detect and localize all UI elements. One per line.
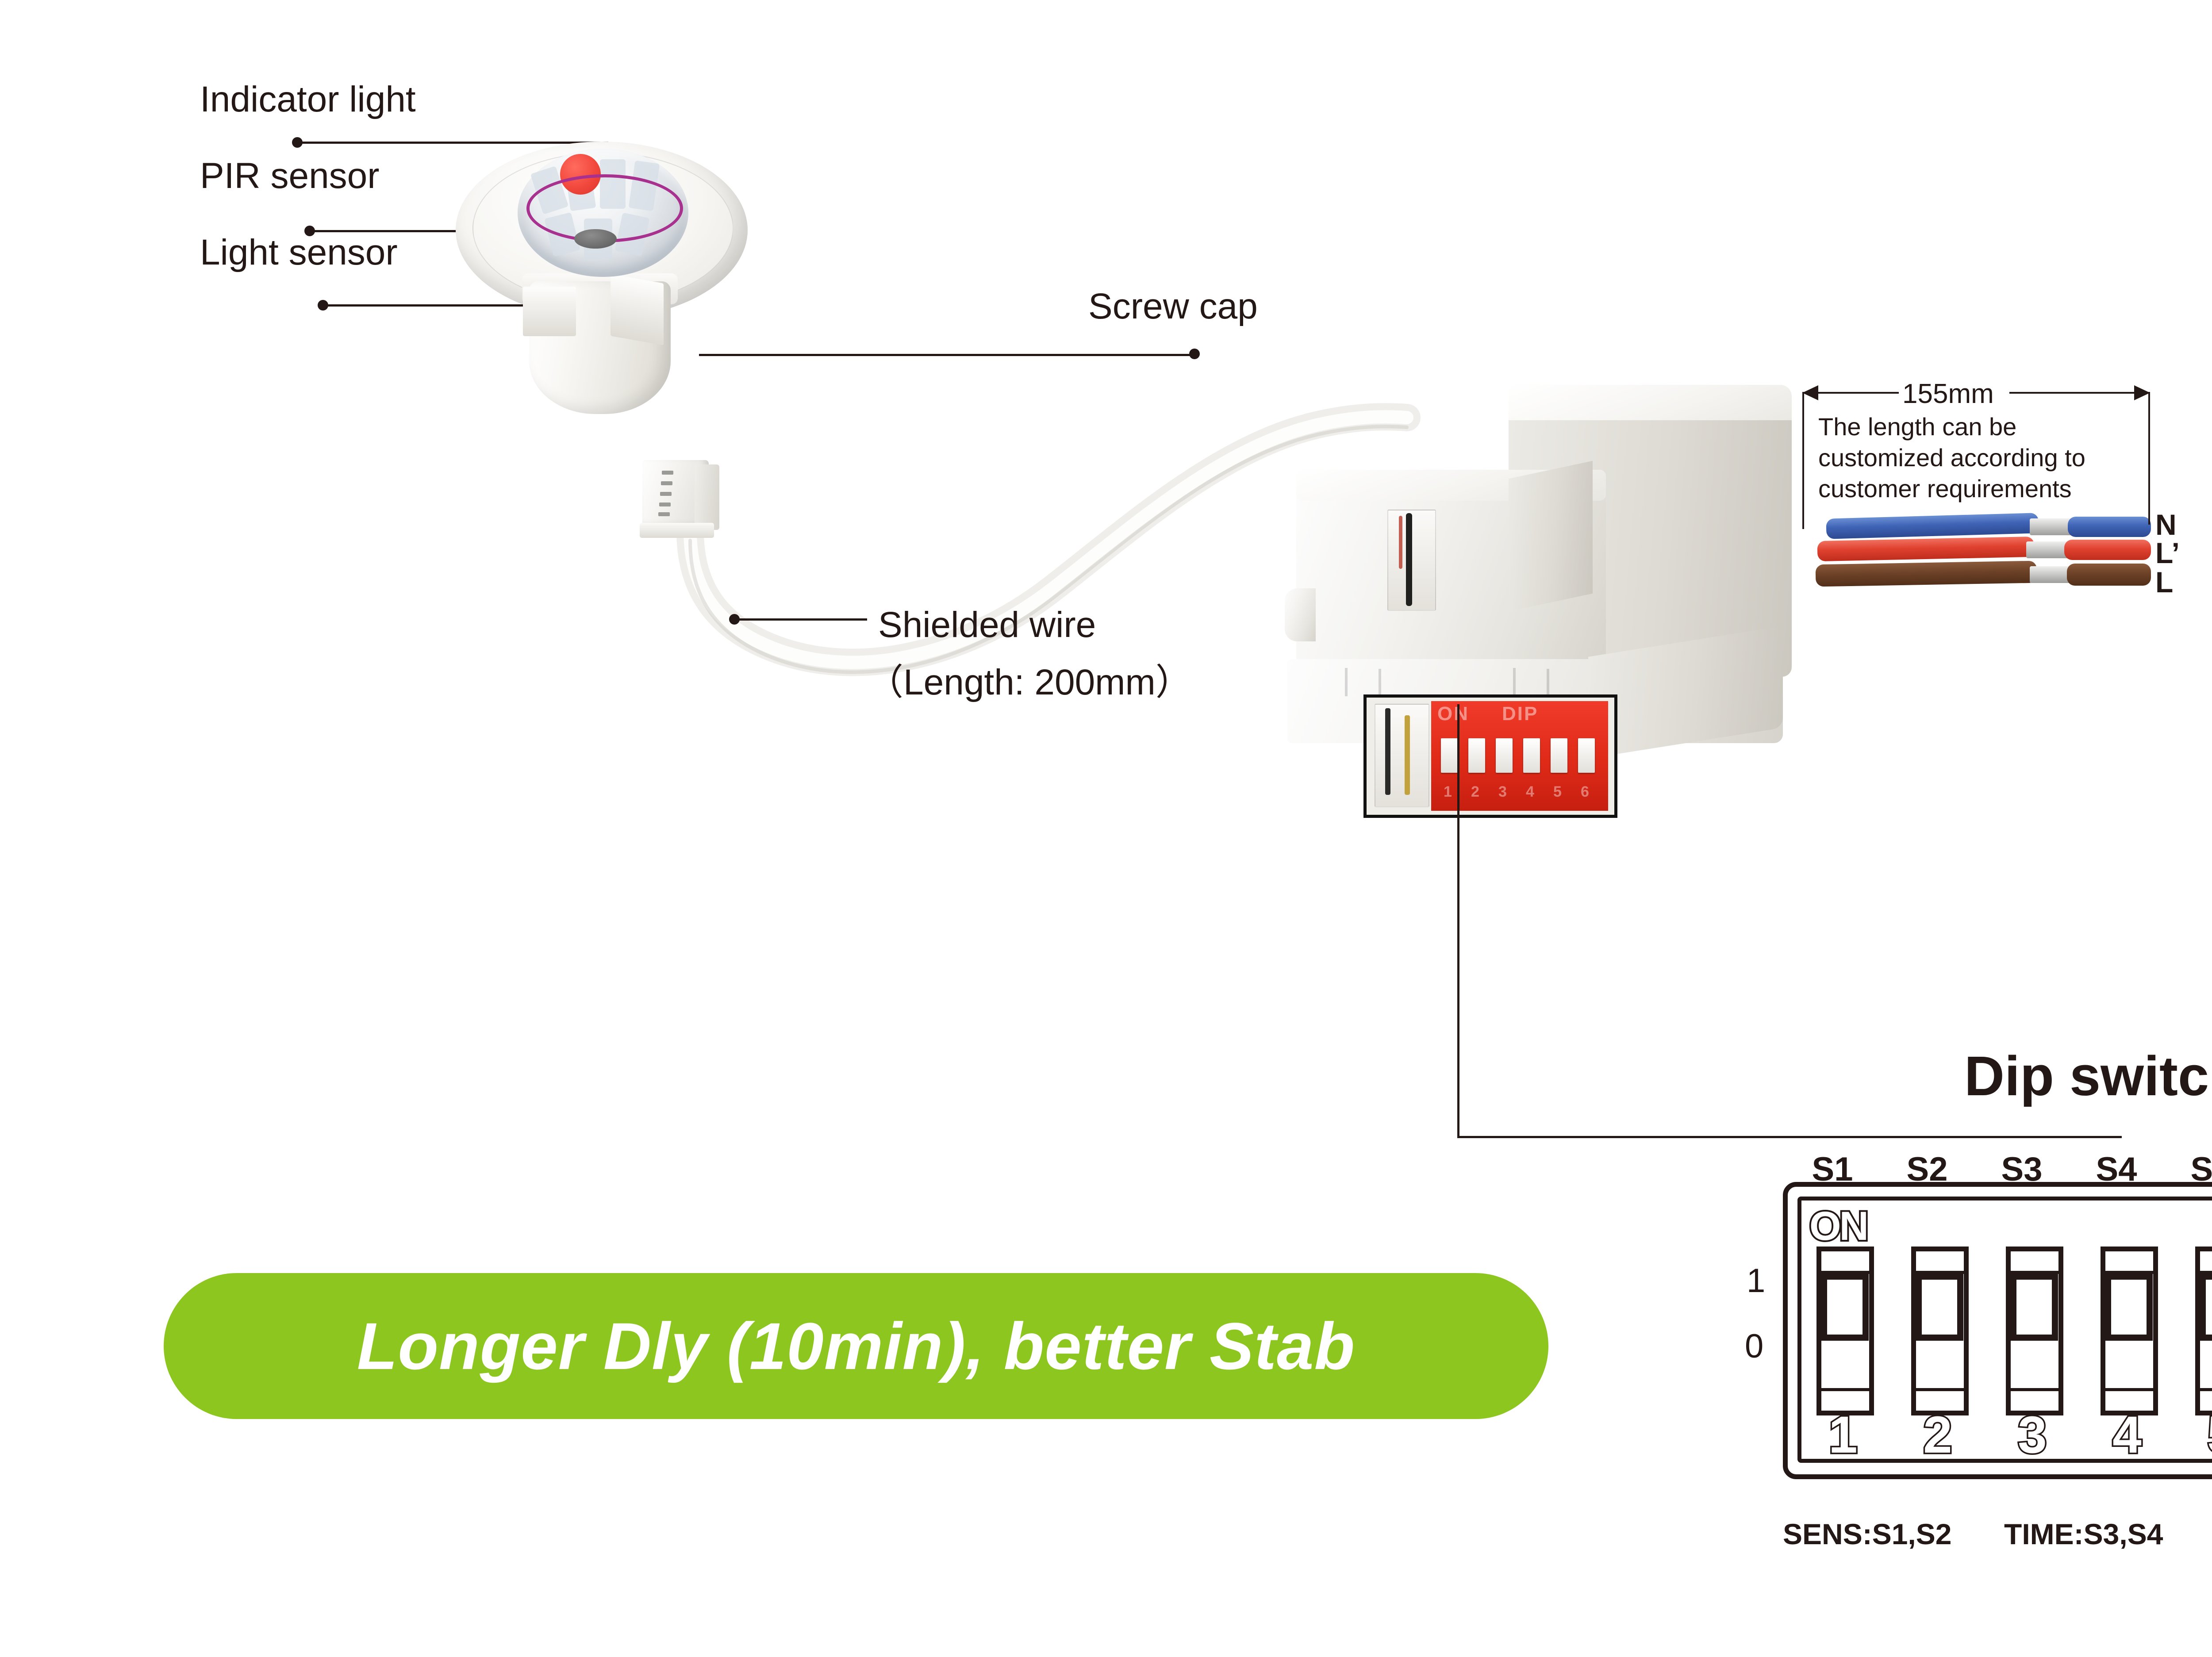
dip-switch-diagram: S1 S2 S3 S4 S5 S6 1 0 ON [1765,1150,2212,1592]
dimension-tick-right [2148,392,2150,525]
module-vent [1547,669,1549,697]
dimension-arrow-left [1802,385,1818,400]
dip-leader-h1 [1457,1136,2122,1138]
dip-switch-slider-5[interactable] [2200,1273,2212,1341]
plug-pin [660,492,672,496]
dip-leader-v1 [1457,704,1459,1138]
dimension-tick-left [1802,392,1804,529]
dip-function-time: TIME:S3,S4 [2004,1517,2163,1551]
module-side-clip [1285,588,1316,641]
promo-banner-text: Longer Dly (10min), better Stab [357,1308,1355,1385]
module-dip-connector-pin [1405,715,1410,795]
dimension-note-line-3: customer requirements [1818,473,2072,504]
dimension-value: 155mm [1902,377,1994,411]
plug-pin [658,512,670,516]
wire-label-l-prime: L’ [2155,536,2180,570]
module-dip-slider[interactable] [1496,738,1513,773]
module-dip-slider[interactable] [1578,738,1595,773]
module-dip-connector-pin [1385,708,1390,795]
module-dip-number: 1 [1444,783,1452,801]
dip-switch-3[interactable] [2006,1247,2063,1415]
wire-live [1816,561,2037,587]
plug-pin [661,481,672,485]
dip-switch-divider [2105,1388,2153,1391]
callout-shielded-wire-length: （Length: 200mm） [867,664,1192,702]
module-dip-number: 6 [1581,783,1589,801]
dip-switch-1[interactable] [1816,1247,1874,1415]
module-dip-on-text: ON [1437,703,1469,725]
cable-entry-wire [1406,513,1412,606]
dip-switch-title: Dip switch [1964,1044,2212,1108]
dip-switch-divider [1916,1388,1964,1391]
leader-line-shielded-wire [734,618,867,621]
module-dip-number: 2 [1471,783,1479,801]
dip-switch-divider [2011,1388,2058,1391]
module-dip-window[interactable]: ON DIP 1 2 3 4 5 6 [1363,694,1617,818]
module-dip-dip-text: DIP [1502,703,1538,725]
wire-live-tip [2067,564,2151,586]
module-dip-number: 3 [1498,783,1507,801]
module-dip-number: 4 [1526,783,1534,801]
plug-pin [659,502,671,506]
plug-pin [662,471,673,475]
cable-entry-wire [1399,516,1402,569]
module-dip-slider[interactable] [1441,738,1458,773]
dip-function-sens: SENS:S1,S2 [1783,1517,1952,1551]
cable-connector-plug [642,460,726,548]
plug-latch [695,464,719,530]
module-dip-number: 5 [1553,783,1562,801]
dimension-arrow-right [2134,385,2150,400]
dip-number-5: 5 [2191,1405,2212,1465]
dip-switch-inner-shell: ON [1797,1197,2212,1463]
dip-number-3: 3 [2001,1405,2063,1465]
dip-switch-4[interactable] [2101,1247,2158,1415]
dip-switch-slider-4[interactable] [2105,1273,2153,1341]
module-dip-slider[interactable] [1551,738,1567,773]
wire-label-l: L [2155,565,2173,599]
module-vent [1379,669,1381,697]
module-dip-slider[interactable] [1523,738,1540,773]
dip-switch-2[interactable] [1911,1247,1969,1415]
callout-shielded-wire: Shielded wire [878,606,1096,644]
dip-switch-divider [1821,1388,1869,1391]
callout-screw-cap: Screw cap [1088,288,1258,326]
module-vent [1513,668,1516,696]
dip-switch-divider [2200,1388,2212,1391]
dip-switch-slider-3[interactable] [2010,1273,2058,1341]
dip-switch-5[interactable] [2195,1247,2212,1415]
wire-switched-live-tip [2064,540,2151,560]
promo-banner: Longer Dly (10min), better Stab [164,1273,1548,1419]
module-dip-slider[interactable] [1468,738,1485,773]
module-dip-connector [1375,704,1429,807]
dip-number-4: 4 [2096,1405,2158,1465]
leader-line-screw-cap [699,354,1194,356]
controller-module: ON DIP 1 2 3 4 5 6 [1279,367,1876,774]
dimension-note-line-2: customized according to [1818,442,2085,473]
dip-number-2: 2 [1907,1405,1969,1465]
plug-foot [640,523,714,538]
dip-switch-slider-1[interactable] [1821,1273,1869,1341]
leader-dot-screw-cap [1189,349,1200,359]
dip-switch-outer-shell: ON [1783,1182,2212,1479]
dip-on-label: ON [1809,1203,1867,1250]
dip-number-1: 1 [1812,1405,1874,1465]
module-step [1509,461,1593,611]
dip-row-label-0: 0 [1745,1327,1763,1365]
dimension-note-line-1: The length can be [1818,411,2016,442]
dip-row-label-1: 1 [1747,1262,1765,1300]
dip-switch-slider-2[interactable] [1916,1273,1963,1341]
module-vent [1345,668,1348,696]
wire-neutral-tip [2068,517,2151,537]
